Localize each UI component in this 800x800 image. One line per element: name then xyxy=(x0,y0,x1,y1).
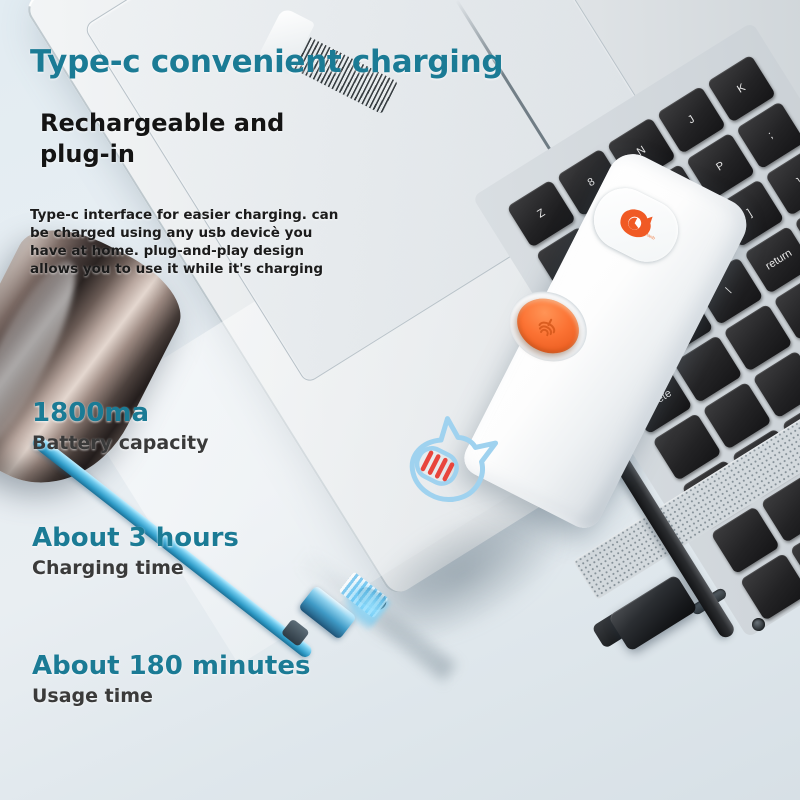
spec-value: About 180 minutes xyxy=(32,651,310,681)
spec-usage-time: About 180 minutes Usage time xyxy=(32,651,310,707)
hair-clipper-product xyxy=(330,120,750,640)
description-paragraph: Type-c interface for easier charging. ca… xyxy=(30,207,340,279)
spec-battery-capacity: 1800ma Battery capacity xyxy=(32,398,208,454)
spec-label: Charging time xyxy=(32,557,239,579)
spec-charging-time: About 3 hours Charging time xyxy=(32,523,239,579)
spec-value: 1800ma xyxy=(32,398,208,428)
product-feature-image: Z 8 N J K L ? : P ; " [ { ] } = + \ retu… xyxy=(0,0,800,800)
laptop-headphone-jack xyxy=(752,618,765,631)
brand-cat-logo-icon: tanbo xyxy=(608,199,664,250)
spec-label: Usage time xyxy=(32,685,310,707)
power-icon xyxy=(531,309,565,342)
page-title: Type-c convenient charging xyxy=(30,44,503,80)
spec-value: About 3 hours xyxy=(32,523,239,553)
svg-text:tanbo: tanbo xyxy=(646,232,659,242)
subheading: Rechargeable and plug-in xyxy=(40,108,340,169)
spec-label: Battery capacity xyxy=(32,432,208,454)
